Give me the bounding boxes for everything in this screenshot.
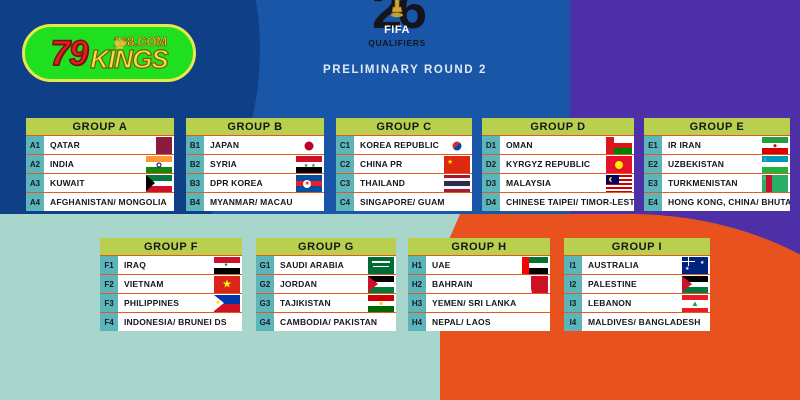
team-code: H4 bbox=[408, 313, 426, 331]
syria-flag: ★★ bbox=[296, 156, 322, 173]
team-code: A4 bbox=[26, 193, 44, 211]
team-name: INDONESIA/ BRUNEI DS bbox=[118, 313, 242, 331]
group-header: GROUP F bbox=[100, 238, 242, 255]
fifa-wordmark: FIFA bbox=[384, 24, 410, 36]
team-row[interactable]: B4MYANMAR/ MACAU bbox=[186, 192, 324, 211]
group-card-b: GROUP BB1JAPANB2SYRIA★★B3DPR KOREA★B4MYA… bbox=[186, 118, 324, 211]
team-code: F3 bbox=[100, 294, 118, 312]
team-name: AFGHANISTAN/ MONGOLIA bbox=[44, 193, 174, 211]
team-row[interactable]: G4CAMBODIA/ PAKISTAN bbox=[256, 312, 396, 331]
group-header: GROUP E bbox=[644, 118, 790, 135]
team-name: MYANMAR/ MACAU bbox=[204, 193, 324, 211]
team-row[interactable]: B3DPR KOREA★ bbox=[186, 173, 324, 192]
malaysia-flag bbox=[606, 175, 632, 192]
world-cup-trophy-icon bbox=[389, 0, 405, 20]
team-row[interactable]: E3TURKMENISTAN☾ bbox=[644, 173, 790, 192]
team-code: C1 bbox=[336, 136, 354, 154]
korea-republic-flag bbox=[444, 137, 470, 154]
uzbekistan-flag: ☾ bbox=[762, 156, 788, 173]
team-row[interactable]: H2BAHRAIN bbox=[408, 274, 550, 293]
team-code: F2 bbox=[100, 275, 118, 293]
team-code: D4 bbox=[482, 193, 500, 211]
team-name: HONG KONG, CHINA/ BHUTAN bbox=[662, 193, 790, 211]
team-code: I4 bbox=[564, 313, 582, 331]
australia-flag: ★★ bbox=[682, 257, 708, 274]
dpr-korea-flag: ★ bbox=[296, 175, 322, 192]
team-name: CAMBODIA/ PAKISTAN bbox=[274, 313, 396, 331]
team-row[interactable]: A1QATAR bbox=[26, 135, 174, 154]
team-row[interactable]: A4AFGHANISTAN/ MONGOLIA bbox=[26, 192, 174, 211]
draw-infographic: 79 168.COM KINGS ♚ 26 FIFA QUALIFIERS PR… bbox=[0, 0, 800, 400]
team-code: E4 bbox=[644, 193, 662, 211]
team-code: A2 bbox=[26, 155, 44, 173]
team-row[interactable]: H3YEMEN/ SRI LANKA bbox=[408, 293, 550, 312]
tajikistan-flag: ♚ bbox=[368, 295, 394, 312]
team-row[interactable]: I3LEBANON▲ bbox=[564, 293, 710, 312]
team-code: E2 bbox=[644, 155, 662, 173]
fifa-qualifiers-label: QUALIFIERS bbox=[368, 38, 425, 48]
team-row[interactable]: E4HONG KONG, CHINA/ BHUTAN bbox=[644, 192, 790, 211]
team-code: F4 bbox=[100, 313, 118, 331]
turkmenistan-flag: ☾ bbox=[762, 175, 788, 192]
team-row[interactable]: I1AUSTRALIA★★ bbox=[564, 255, 710, 274]
kyrgyzstan-flag bbox=[606, 156, 632, 173]
team-code: B3 bbox=[186, 174, 204, 192]
team-code: D1 bbox=[482, 136, 500, 154]
group-card-g: GROUP GG1SAUDI ARABIAG2JORDANG3TAJIKISTA… bbox=[256, 238, 396, 331]
team-row[interactable]: E1IR IRAN◆ bbox=[644, 135, 790, 154]
vietnam-flag: ★ bbox=[214, 276, 240, 293]
team-code: D2 bbox=[482, 155, 500, 173]
team-code: A3 bbox=[26, 174, 44, 192]
team-code: H1 bbox=[408, 256, 426, 274]
thailand-flag bbox=[444, 175, 470, 192]
team-code: I2 bbox=[564, 275, 582, 293]
group-card-d: GROUP DD1OMAND2KYRGYZ REPUBLICD3MALAYSIA… bbox=[482, 118, 634, 211]
team-code: B2 bbox=[186, 155, 204, 173]
team-code: G3 bbox=[256, 294, 274, 312]
iran-flag: ◆ bbox=[762, 137, 788, 154]
team-code: C3 bbox=[336, 174, 354, 192]
team-row[interactable]: I2PALESTINE bbox=[564, 274, 710, 293]
group-card-a: GROUP AA1QATARA2INDIAA3KUWAITA4AFGHANIST… bbox=[26, 118, 174, 211]
team-code: A1 bbox=[26, 136, 44, 154]
team-row[interactable]: D4CHINESE TAIPEI/ TIMOR-LESTE bbox=[482, 192, 634, 211]
team-code: I1 bbox=[564, 256, 582, 274]
team-row[interactable]: B1JAPAN bbox=[186, 135, 324, 154]
palestine-flag bbox=[682, 276, 708, 293]
team-row[interactable]: F2VIETNAM★ bbox=[100, 274, 242, 293]
bahrain-flag bbox=[522, 276, 548, 293]
china-flag: ★ bbox=[444, 156, 470, 173]
team-row[interactable]: D2KYRGYZ REPUBLIC bbox=[482, 154, 634, 173]
team-row[interactable]: C3THAILAND bbox=[336, 173, 472, 192]
qatar-flag bbox=[146, 137, 172, 154]
lebanon-flag: ▲ bbox=[682, 295, 708, 312]
team-row[interactable]: C1KOREA REPUBLIC bbox=[336, 135, 472, 154]
team-row[interactable]: E2UZBEKISTAN☾ bbox=[644, 154, 790, 173]
group-header: GROUP I bbox=[564, 238, 710, 255]
group-header: GROUP G bbox=[256, 238, 396, 255]
team-code: E3 bbox=[644, 174, 662, 192]
group-card-c: GROUP CC1KOREA REPUBLICC2CHINA PR★C3THAI… bbox=[336, 118, 472, 211]
team-row[interactable]: G1SAUDI ARABIA bbox=[256, 255, 396, 274]
team-row[interactable]: A3KUWAIT bbox=[26, 173, 174, 192]
group-card-h: GROUP HH1UAEH2BAHRAINH3YEMEN/ SRI LANKAH… bbox=[408, 238, 550, 331]
kuwait-flag bbox=[146, 175, 172, 192]
team-row[interactable]: H4NEPAL/ LAOS bbox=[408, 312, 550, 331]
team-name: SINGAPORE/ GUAM bbox=[354, 193, 472, 211]
philippines-flag: ★ bbox=[214, 295, 240, 312]
page-title-text: PRELIMINARY ROUND 2 bbox=[323, 64, 487, 76]
team-name: YEMEN/ SRI LANKA bbox=[426, 294, 550, 312]
team-row[interactable]: F4INDONESIA/ BRUNEI DS bbox=[100, 312, 242, 331]
group-header: GROUP H bbox=[408, 238, 550, 255]
group-card-e: GROUP EE1IR IRAN◆E2UZBEKISTAN☾E3TURKMENI… bbox=[644, 118, 790, 211]
team-row[interactable]: D3MALAYSIA bbox=[482, 173, 634, 192]
jordan-flag bbox=[368, 276, 394, 293]
team-code: G2 bbox=[256, 275, 274, 293]
fifa-emblem: 26 FIFA QUALIFIERS bbox=[352, 0, 442, 58]
team-name: MALDIVES/ BANGLADESH bbox=[582, 313, 710, 331]
team-name: NEPAL/ LAOS bbox=[426, 313, 550, 331]
team-row[interactable]: C2CHINA PR★ bbox=[336, 154, 472, 173]
team-row[interactable]: D1OMAN bbox=[482, 135, 634, 154]
group-header: GROUP C bbox=[336, 118, 472, 135]
team-row[interactable]: A2INDIA bbox=[26, 154, 174, 173]
group-card-i: GROUP II1AUSTRALIA★★I2PALESTINEI3LEBANON… bbox=[564, 238, 710, 331]
team-row[interactable]: F1IRAQ✱ bbox=[100, 255, 242, 274]
team-row[interactable]: G3TAJIKISTAN♚ bbox=[256, 293, 396, 312]
group-header: GROUP D bbox=[482, 118, 634, 135]
team-row[interactable]: F3PHILIPPINES★ bbox=[100, 293, 242, 312]
team-row[interactable]: C4SINGAPORE/ GUAM bbox=[336, 192, 472, 211]
group-header: GROUP B bbox=[186, 118, 324, 135]
team-row[interactable]: H1UAE bbox=[408, 255, 550, 274]
iraq-flag: ✱ bbox=[214, 257, 240, 274]
brand-logo[interactable]: 79 168.COM KINGS ♚ bbox=[22, 24, 196, 82]
india-flag bbox=[146, 156, 172, 173]
group-header: GROUP A bbox=[26, 118, 174, 135]
japan-flag bbox=[296, 137, 322, 154]
team-row[interactable]: I4MALDIVES/ BANGLADESH bbox=[564, 312, 710, 331]
team-code: F1 bbox=[100, 256, 118, 274]
team-code: D3 bbox=[482, 174, 500, 192]
team-row[interactable]: G2JORDAN bbox=[256, 274, 396, 293]
team-code: B1 bbox=[186, 136, 204, 154]
team-code: I3 bbox=[564, 294, 582, 312]
brand-logo-number: 79 bbox=[50, 36, 87, 71]
team-code: H3 bbox=[408, 294, 426, 312]
crown-icon: ♚ bbox=[113, 37, 126, 52]
team-code: E1 bbox=[644, 136, 662, 154]
uae-flag bbox=[522, 257, 548, 274]
oman-flag bbox=[606, 137, 632, 154]
group-card-f: GROUP FF1IRAQ✱F2VIETNAM★F3PHILIPPINES★F4… bbox=[100, 238, 242, 331]
team-code: H2 bbox=[408, 275, 426, 293]
team-code: B4 bbox=[186, 193, 204, 211]
team-row[interactable]: B2SYRIA★★ bbox=[186, 154, 324, 173]
team-name: CHINESE TAIPEI/ TIMOR-LESTE bbox=[500, 193, 634, 211]
brand-logo-word: KINGS bbox=[90, 46, 167, 72]
saudi-arabia-flag bbox=[368, 257, 394, 274]
team-code: C2 bbox=[336, 155, 354, 173]
team-code: C4 bbox=[336, 193, 354, 211]
team-code: G1 bbox=[256, 256, 274, 274]
team-code: G4 bbox=[256, 313, 274, 331]
